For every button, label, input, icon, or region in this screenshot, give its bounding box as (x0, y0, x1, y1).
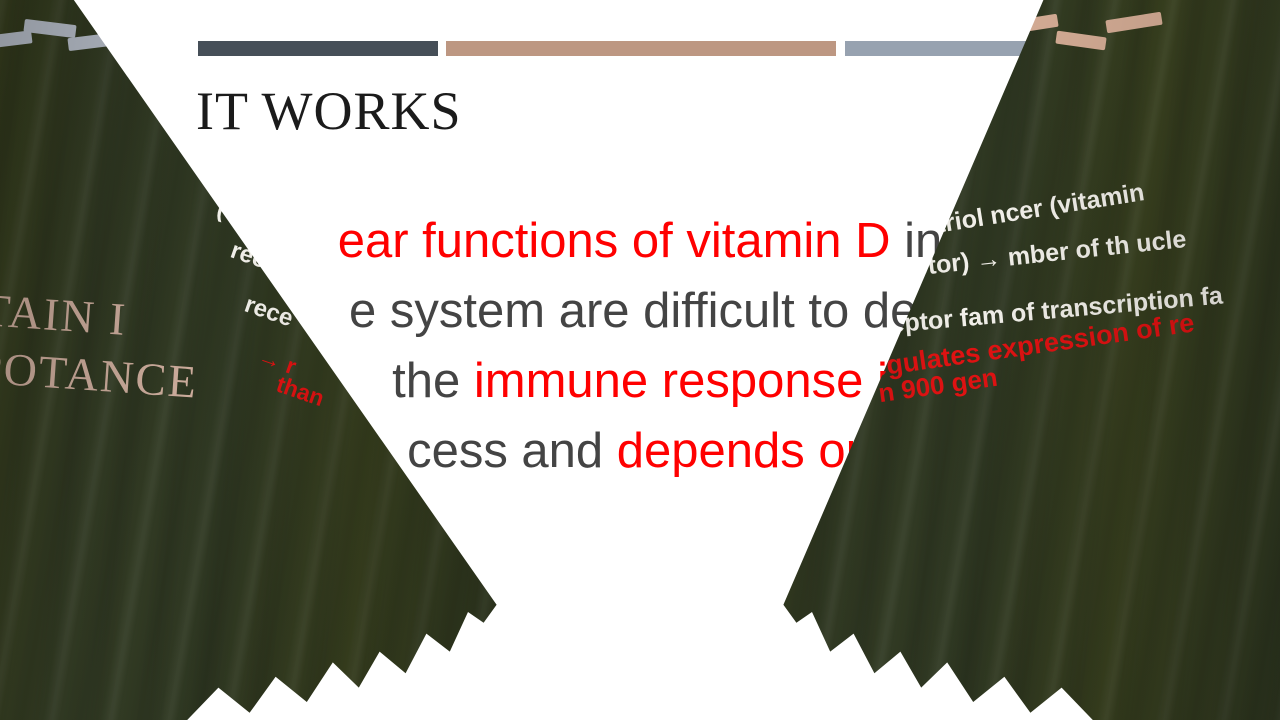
slide-title: IT WORKS (196, 80, 462, 142)
decor-bar-copper (446, 41, 836, 56)
body-line-3-segment-1: the (392, 354, 474, 408)
body-line-1-segment-1: ear functions of vitamin D (338, 214, 904, 268)
body-line-4-segment-2: depends on (617, 424, 873, 478)
presentation-stage: IT WORKS ear functions of vitamin D in e… (0, 0, 1280, 720)
body-line-3-segment-2: immune response i (474, 354, 888, 408)
decor-bar-dark-slate (198, 41, 438, 56)
body-line-4-segment-1: cess and (407, 424, 617, 478)
body-line-2-segment-1: e system are difficult to def (349, 284, 931, 338)
